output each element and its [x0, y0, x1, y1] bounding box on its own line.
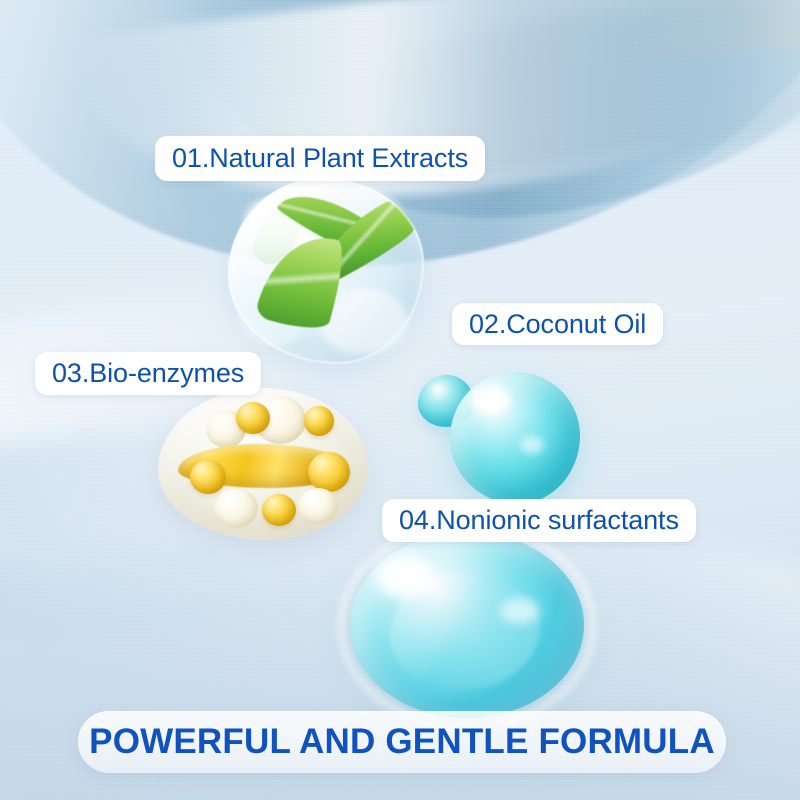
label-pill-bio-enzymes[interactable]: 03.Bio-enzymes: [35, 352, 261, 395]
headline-banner: POWERFUL AND GENTLE FORMULA: [78, 711, 726, 773]
bubble-rim: [336, 520, 598, 732]
product-infographic: 01.Natural Plant Extracts 02.Coconut Oil…: [0, 0, 800, 800]
gold-bead: [304, 406, 334, 436]
specular-highlight: [520, 436, 544, 454]
pale-bead: [214, 488, 258, 528]
blue-gel-bubble: [350, 532, 584, 718]
label-text: 02.Coconut Oil: [469, 309, 646, 340]
gold-bead: [190, 460, 226, 494]
label-text: 04.Nonionic surfactants: [399, 505, 679, 536]
pale-bead: [298, 488, 338, 524]
clear-gel-blob: [228, 178, 424, 364]
label-text: 01.Natural Plant Extracts: [172, 143, 468, 174]
label-pill-natural-plant-extracts[interactable]: 01.Natural Plant Extracts: [155, 136, 485, 181]
gel-edge-highlight: [228, 178, 424, 364]
gold-bead: [308, 452, 350, 492]
headline-text: POWERFUL AND GENTLE FORMULA: [89, 722, 715, 762]
label-pill-coconut-oil[interactable]: 02.Coconut Oil: [452, 303, 663, 345]
label-pill-nonionic-surfactants[interactable]: 04.Nonionic surfactants: [382, 499, 696, 542]
gold-bead: [262, 494, 296, 526]
label-text: 03.Bio-enzymes: [52, 358, 244, 389]
amber-enzyme-pod: [158, 388, 368, 540]
gold-bead: [236, 402, 270, 434]
specular-highlight: [470, 386, 510, 414]
cyan-gel-bead: [450, 372, 580, 504]
